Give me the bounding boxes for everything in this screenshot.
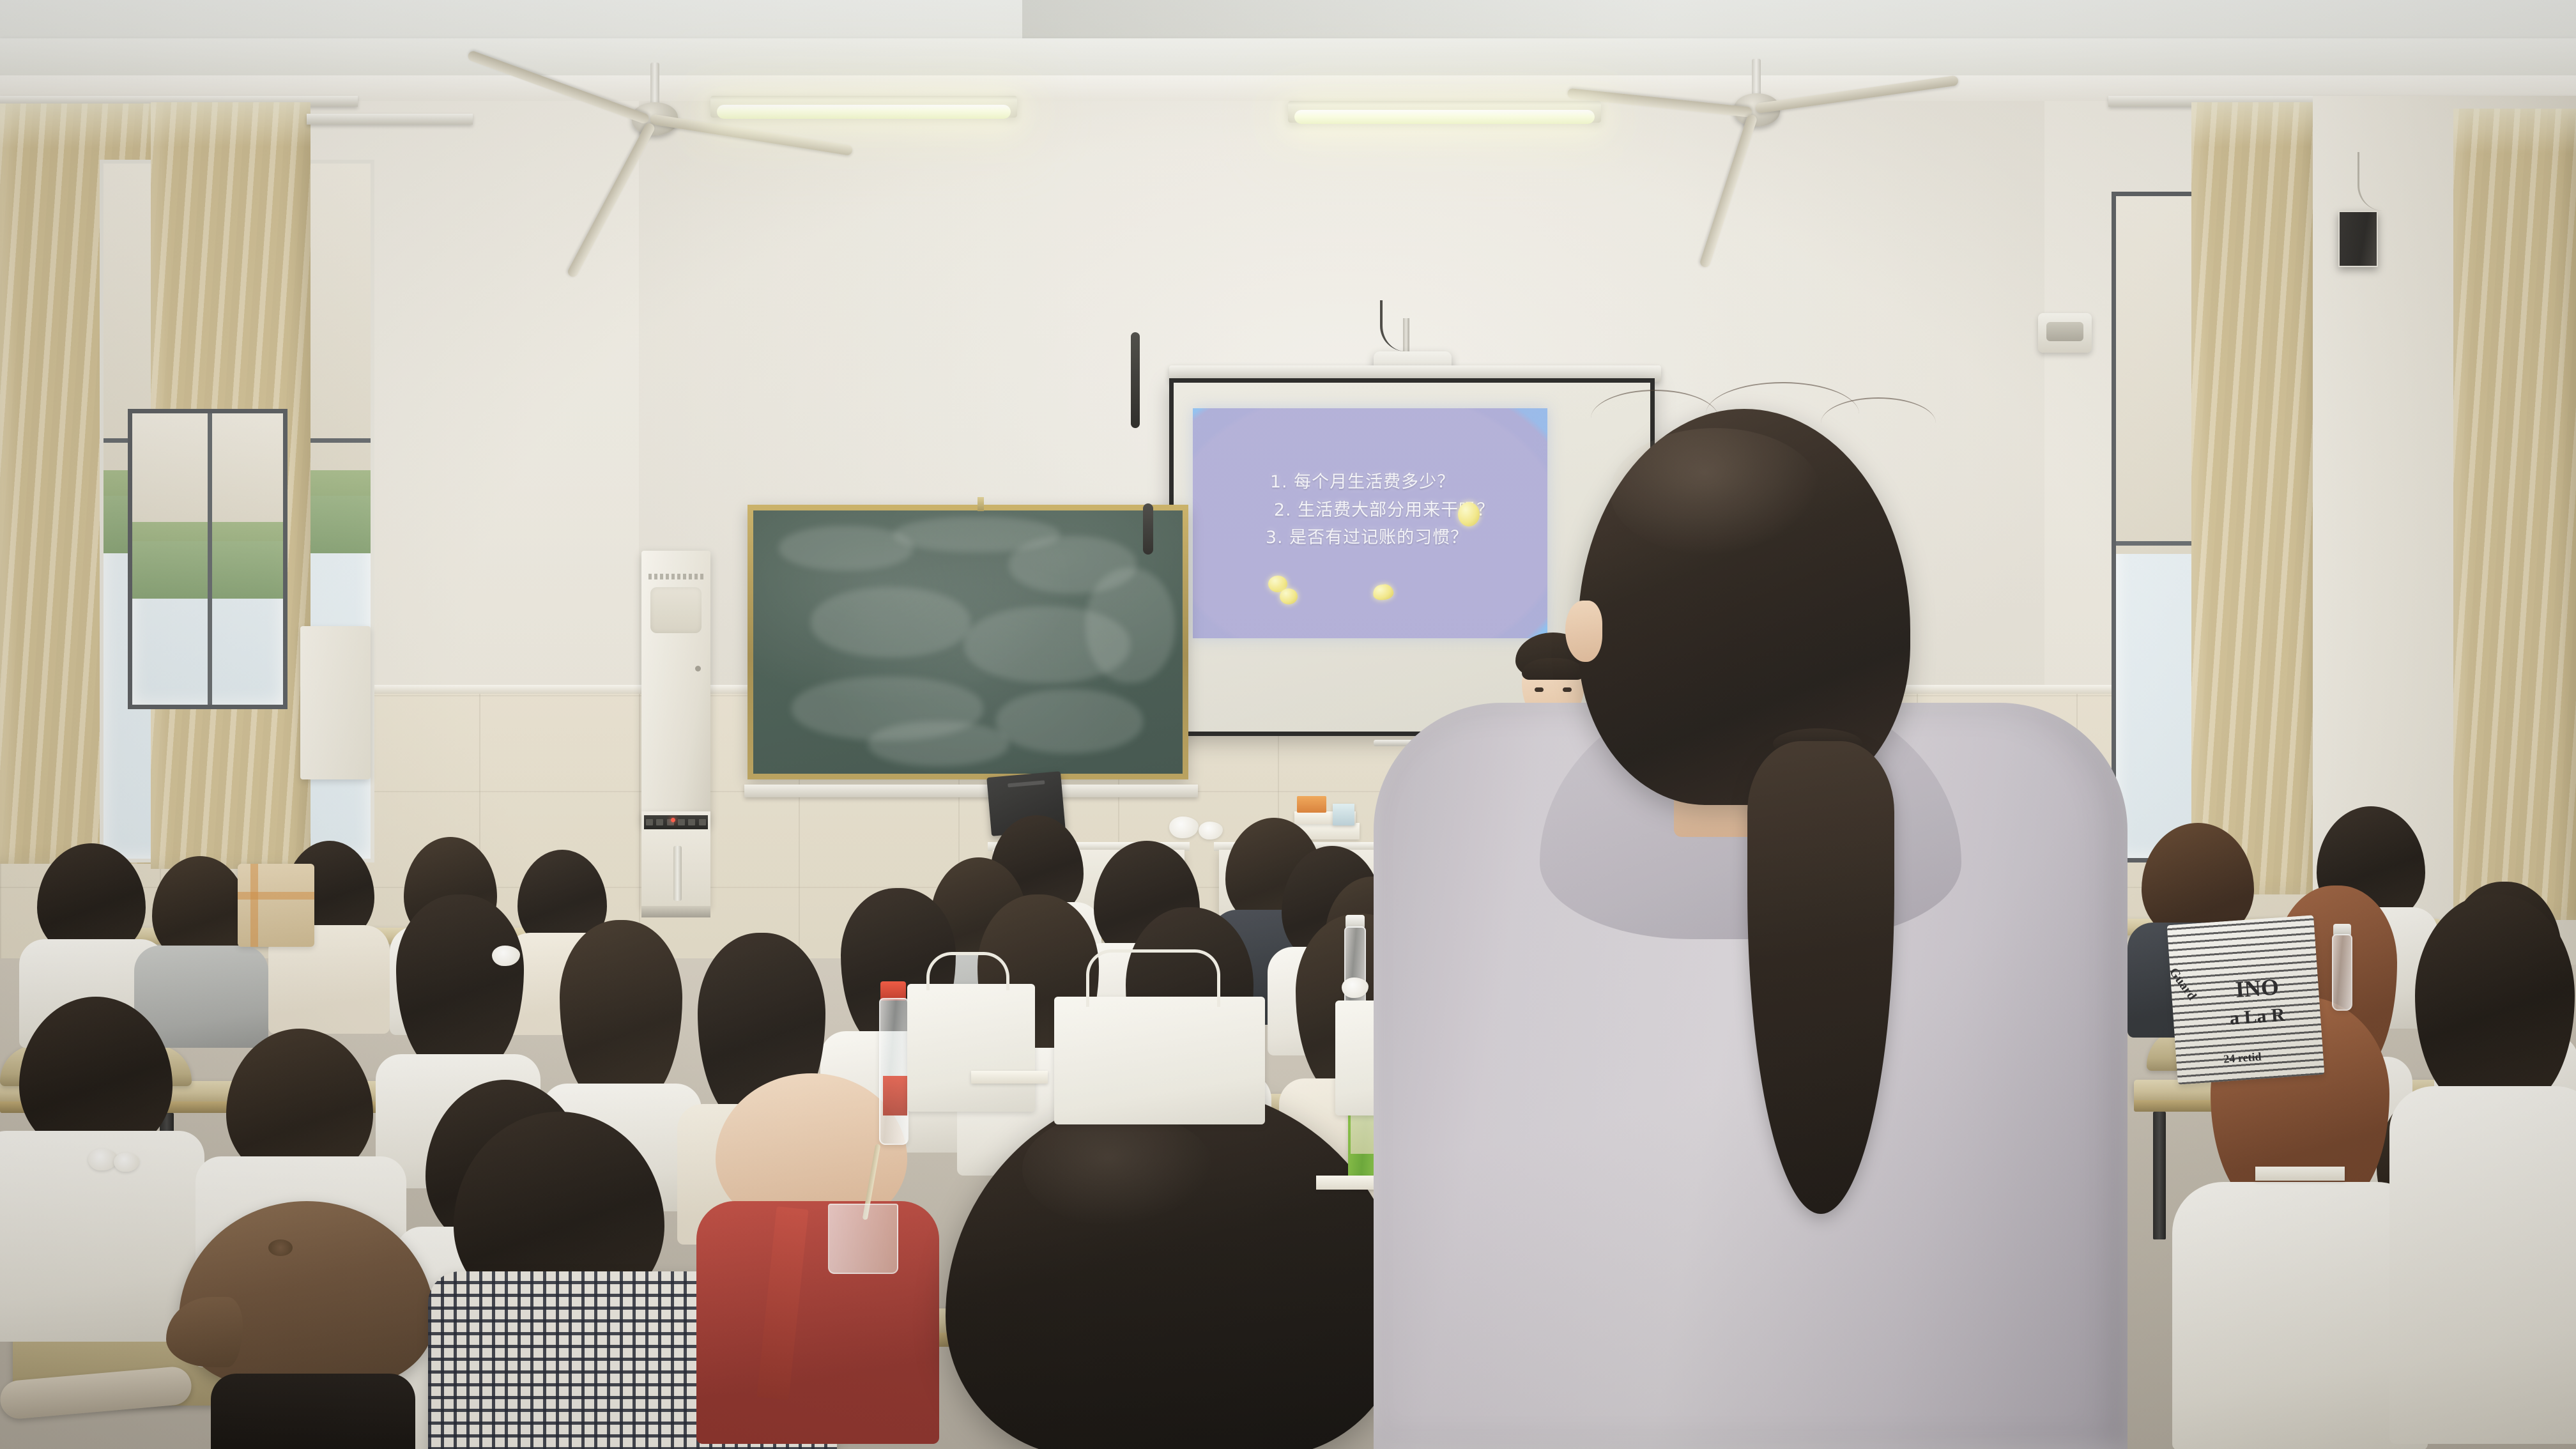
- cabinet-power-led: [671, 818, 675, 822]
- white-tote-bag-2: [1054, 997, 1265, 1124]
- media-cabinet[interactable]: [641, 551, 710, 825]
- water-bottle-3: [2332, 934, 2352, 1011]
- window-left-lower: [128, 409, 287, 709]
- box-tape-vertical: [250, 864, 258, 947]
- projector-bracket: [1403, 318, 1409, 355]
- news-word-1: INO: [2235, 975, 2280, 1001]
- motion-sensor: [2038, 313, 2092, 353]
- white-tote-strap-1: [926, 952, 1009, 990]
- ceiling-fan-rod-2: [1752, 59, 1761, 98]
- cabinet-handle[interactable]: [673, 846, 682, 901]
- chalk-ledge: [744, 785, 1198, 797]
- box-tape-horizontal: [238, 892, 314, 900]
- ceiling-fan-rod-1: [650, 63, 659, 107]
- drink-cup: [828, 1204, 898, 1274]
- orange-book: [1297, 796, 1326, 813]
- coin-icon-bottom-left-b: [1280, 588, 1298, 604]
- media-cabinet-panel[interactable]: [641, 811, 710, 907]
- classroom-scene: 1. 每个月生活费多少？ 2. 生活费大部分用来干吗？ 3. 是否有过记账的习惯…: [0, 0, 2576, 1449]
- paper-on-desk-2: [2255, 1167, 2345, 1181]
- red-top: [696, 1201, 939, 1444]
- fluorescent-tube-2: [1294, 110, 1595, 124]
- cabinet-display: [644, 815, 708, 829]
- student-with-cap: [172, 1201, 441, 1449]
- media-cabinet-vent: [650, 587, 701, 633]
- student-front-center-bob: [946, 1086, 1406, 1449]
- air-conditioner-duct: [300, 626, 371, 779]
- media-cabinet-label: [648, 574, 703, 579]
- curtain-right-inner[interactable]: [2191, 102, 2319, 894]
- news-word-2: a La R: [2229, 1006, 2286, 1029]
- curtain-rail-left-2: [307, 114, 473, 125]
- sensor-lens: [2046, 322, 2083, 341]
- desk-leg-right-c: [2153, 1112, 2166, 1239]
- newspaper-print-tote-bag: INO a La R Guard 24 retid: [2167, 915, 2325, 1084]
- foreground-student-standing: [1374, 409, 2127, 1449]
- cap-student-hair: [211, 1374, 415, 1449]
- speaker-cable: [2357, 152, 2434, 211]
- front-center-hair-shine: [1022, 1112, 1214, 1227]
- blackboard: [747, 505, 1188, 779]
- curtain-right-outer[interactable]: [2453, 109, 2576, 920]
- paper-on-desk-3: [971, 1071, 1048, 1084]
- white-tote-strap-2: [1086, 949, 1220, 1007]
- monitor-logo: [1008, 780, 1045, 787]
- media-cabinet-shelf: [641, 906, 710, 917]
- cap-brim: [166, 1297, 243, 1367]
- media-cabinet-indicator: [695, 666, 701, 671]
- student-far-right-front: [2402, 894, 2576, 1449]
- blackboard-hook: [1143, 503, 1153, 555]
- news-word-4: 24 retid: [2223, 1051, 2262, 1065]
- bottle-cap-small: [1345, 915, 1365, 928]
- blackboard-clip: [977, 497, 984, 511]
- white-tote-bag-1: [907, 984, 1035, 1112]
- fluorescent-tube-1: [717, 105, 1011, 119]
- blackboard-surface: [753, 510, 1183, 774]
- hanging-microphone: [1131, 332, 1140, 428]
- bottle-label-1: [883, 1076, 907, 1115]
- cardboard-box: [238, 864, 314, 947]
- cap-button: [268, 1239, 293, 1256]
- student-red-strap: [690, 1073, 958, 1449]
- foreground-hair-highlight: [1610, 428, 1821, 556]
- news-word-3: Guard: [2167, 965, 2199, 1002]
- wall-speaker: [2338, 211, 2378, 267]
- foreground-ear: [1565, 601, 1602, 662]
- water-bottle-1: [879, 998, 908, 1145]
